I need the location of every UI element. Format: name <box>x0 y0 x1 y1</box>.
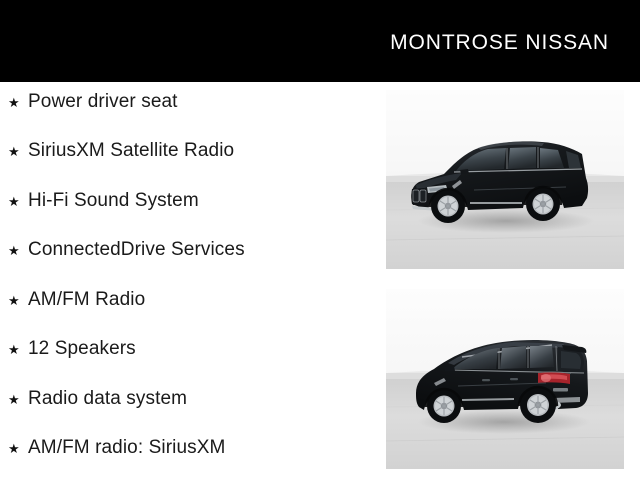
vehicle-feature-list: ★ Power driver seat ★ SiriusXM Satellite… <box>0 82 380 480</box>
vehicle-features-slide: MONTROSE NISSAN ★ Power driver seat ★ Si… <box>0 0 640 480</box>
list-item: ★ Power driver seat <box>8 92 178 111</box>
star-bullet-icon: ★ <box>8 96 28 109</box>
vehicle-rear-illustration: X3 <box>386 289 624 469</box>
list-item: ★ AM/FM Radio <box>8 290 145 309</box>
feature-label: 12 Speakers <box>28 339 136 358</box>
list-item: ★ AM/FM radio: SiriusXM <box>8 438 225 457</box>
feature-label: Hi-Fi Sound System <box>28 191 199 210</box>
feature-label: SiriusXM Satellite Radio <box>28 141 234 160</box>
feature-label: AM/FM radio: SiriusXM <box>28 438 225 457</box>
feature-label: Power driver seat <box>28 92 178 111</box>
vehicle-photo-front-three-quarter[interactable] <box>386 90 624 269</box>
star-bullet-icon: ★ <box>8 195 28 208</box>
star-bullet-icon: ★ <box>8 244 28 257</box>
list-item: ★ Hi-Fi Sound System <box>8 191 199 210</box>
star-bullet-icon: ★ <box>8 393 28 406</box>
star-bullet-icon: ★ <box>8 294 28 307</box>
list-item: ★ SiriusXM Satellite Radio <box>8 141 234 160</box>
star-bullet-icon: ★ <box>8 442 28 455</box>
star-bullet-icon: ★ <box>8 343 28 356</box>
star-bullet-icon: ★ <box>8 145 28 158</box>
vehicle-front-illustration <box>386 90 624 269</box>
list-item: ★ Radio data system <box>8 389 187 408</box>
feature-label: AM/FM Radio <box>28 290 145 309</box>
list-item: ★ ConnectedDrive Services <box>8 240 245 259</box>
vehicle-photo-rear-three-quarter[interactable]: X3 <box>386 289 624 469</box>
dealer-name-title: MONTROSE NISSAN <box>390 30 609 53</box>
list-item: ★ 12 Speakers <box>8 339 136 358</box>
feature-label: Radio data system <box>28 389 187 408</box>
dealer-header-bar: MONTROSE NISSAN <box>0 0 640 82</box>
feature-label: ConnectedDrive Services <box>28 240 245 259</box>
